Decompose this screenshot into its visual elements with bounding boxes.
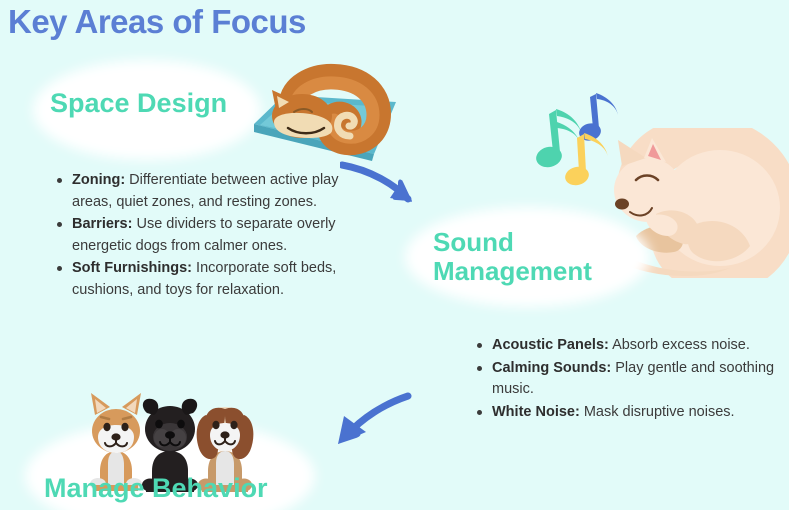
sound-management-bullet-list: Acoustic Panels: Absorb excess noise. Ca… bbox=[470, 335, 789, 424]
list-item: White Noise: Mask disruptive noises. bbox=[492, 402, 789, 424]
page-title: Key Areas of Focus bbox=[8, 2, 306, 42]
arrow-down-left-icon bbox=[322, 392, 412, 457]
list-item: Zoning: Differentiate between active pla… bbox=[72, 170, 354, 213]
list-item: Soft Furnishings: Incorporate soft beds,… bbox=[72, 258, 354, 301]
space-design-bullet-list: Zoning: Differentiate between active pla… bbox=[50, 170, 354, 302]
space-design-heading: Space Design bbox=[50, 88, 260, 118]
list-item: Acoustic Panels: Absorb excess noise. bbox=[492, 335, 789, 357]
sound-management-heading: Sound Management bbox=[433, 228, 648, 286]
list-item: Calming Sounds: Play gentle and soothing… bbox=[492, 358, 789, 401]
bullet-term: Zoning: bbox=[72, 172, 125, 188]
infographic-canvas: Key Areas of Focus Space Design Z bbox=[0, 0, 789, 510]
bullet-term: Soft Furnishings: bbox=[72, 260, 192, 276]
bullet-term: White Noise: bbox=[492, 404, 580, 420]
arrow-right-icon bbox=[340, 160, 430, 215]
bullet-term: Calming Sounds: bbox=[492, 360, 611, 376]
manage-behavior-heading: Manage Behavior bbox=[44, 473, 324, 503]
bullet-text: Mask disruptive noises. bbox=[580, 404, 735, 420]
bullet-text: Absorb excess noise. bbox=[609, 337, 750, 353]
list-item: Barriers: Use dividers to separate overl… bbox=[72, 214, 354, 257]
sleeping-shiba-on-bed-illustration bbox=[246, 62, 401, 167]
bullet-term: Barriers: bbox=[72, 216, 132, 232]
bullet-term: Acoustic Panels: bbox=[492, 337, 609, 353]
